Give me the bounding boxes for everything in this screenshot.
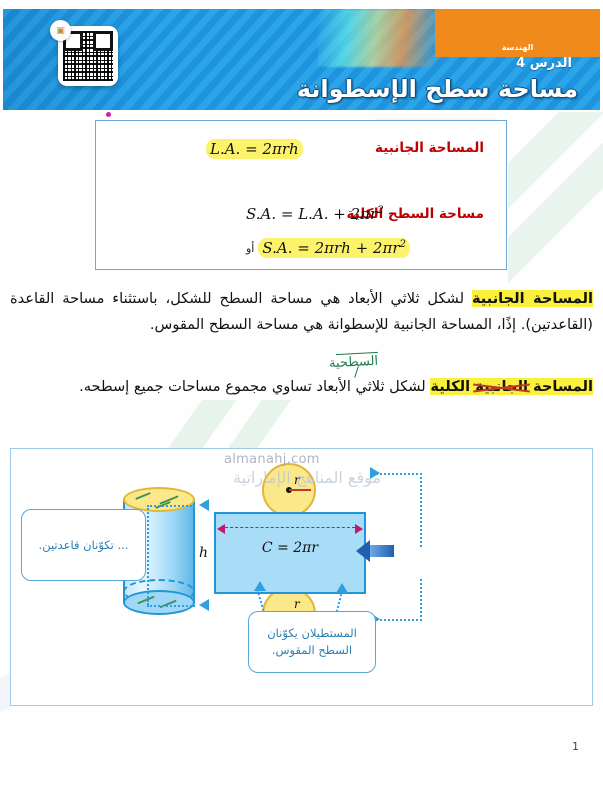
arrow-to-cylinder-bottom: [199, 599, 209, 611]
circumference-dimension-arrow: [225, 527, 355, 530]
arrow-to-rectangle: [254, 581, 266, 591]
handwritten-correction: السطحية: [329, 354, 379, 372]
page-title: مساحة سطح الإسطوانة: [297, 75, 578, 103]
rectangle-lateral-surface: C = 2πr: [214, 512, 366, 594]
paragraph-lateral-area: المساحة الجانبية لشكل ثلاثي الأبعاد هي م…: [10, 286, 593, 338]
lesson-number: الدرس 4: [516, 56, 572, 71]
paragraph-2-kept-word: الكلية: [430, 378, 475, 395]
cylinder-top-shine-1: [135, 492, 151, 500]
formula-1-exponent: 2: [377, 205, 383, 216]
transform-arrow-icon: [370, 545, 394, 557]
connector-right-vertical: [147, 505, 149, 605]
paragraph-2-struck-word: الجانبية: [475, 378, 528, 395]
connector-right-bottom-horizontal: [147, 605, 195, 607]
paragraph-total-surface-area: المساحة الجانبية الكلية لشكل ثلاثي الأبع…: [8, 374, 593, 400]
surface-area-formula-1: S.A. = L.A. + 2πr2: [246, 205, 384, 223]
subject-tab: الهندسة: [435, 9, 600, 57]
formula-2-exponent: 2: [400, 239, 406, 250]
lateral-area-formula: L.A. = 2πrh: [206, 139, 303, 159]
height-label: h: [199, 545, 208, 561]
page-number: 1: [572, 740, 579, 753]
connector-left-bottom-vertical: [420, 579, 422, 621]
lateral-area-formula-row: L.A. = 2πrh: [206, 139, 303, 159]
connector-right-top-horizontal: [147, 505, 195, 507]
qr-code-icon: [63, 31, 113, 81]
surface-area-formula-row-2: S.A. = 2πrh + 2πr2 أو: [246, 238, 410, 258]
circumference-label: C = 2πr: [216, 540, 364, 556]
subject-tab-label: الهندسة: [502, 43, 534, 52]
connector-left-top-vertical: [420, 473, 422, 547]
certificate-icon: ▣: [50, 20, 71, 41]
surface-area-formula-row-1: S.A. = L.A. + 2πr2: [246, 205, 384, 223]
watermark-site-url: almanahj.com: [224, 452, 320, 467]
worksheet-page: الهندسة الدرس 4 مساحة سطح الإسطوانة ▣ ال…: [0, 0, 603, 800]
header-accent-dot: [106, 112, 111, 117]
callout-rectangles-label: المستطيلان يكوّنان السطح المقوس.: [267, 625, 357, 659]
formula-box: المساحة الجانبية L.A. = 2πrh مساحة السطح…: [95, 120, 507, 270]
circle-top-radius-line: [289, 489, 311, 491]
or-word: أو: [246, 242, 254, 255]
callout-form-two-bases-label: ... تكوّنان قاعدتين.: [39, 537, 129, 554]
watermark-green-right: [508, 112, 603, 302]
arrow-to-cylinder-side: [336, 583, 348, 593]
lateral-area-label: المساحة الجانبية: [375, 140, 484, 156]
header-rainbow-gradient: [318, 9, 438, 67]
circle-bottom-radius-label: r: [294, 597, 300, 611]
callout-form-two-bases: ... تكوّنان قاعدتين.: [21, 509, 146, 581]
arrow-to-cylinder-top: [199, 499, 209, 511]
callout-rectangles-form-curved-surface: المستطيلان يكوّنان السطح المقوس.: [248, 611, 376, 673]
cylinder-bottom-base: [123, 590, 195, 615]
paragraph-2-prefix: المساحة: [528, 378, 593, 395]
lateral-area-label-row: المساحة الجانبية: [375, 140, 484, 156]
surface-area-formula-2: S.A. = 2πrh + 2πr2: [258, 238, 410, 258]
paragraph-1-highlight: المساحة الجانبية: [472, 290, 593, 307]
paragraph-2-text: لشكل ثلاثي الأبعاد تساوي مجموع مساحات جم…: [79, 378, 430, 395]
watermark-site-arabic: موقع المناهج الإماراتية: [212, 468, 402, 487]
